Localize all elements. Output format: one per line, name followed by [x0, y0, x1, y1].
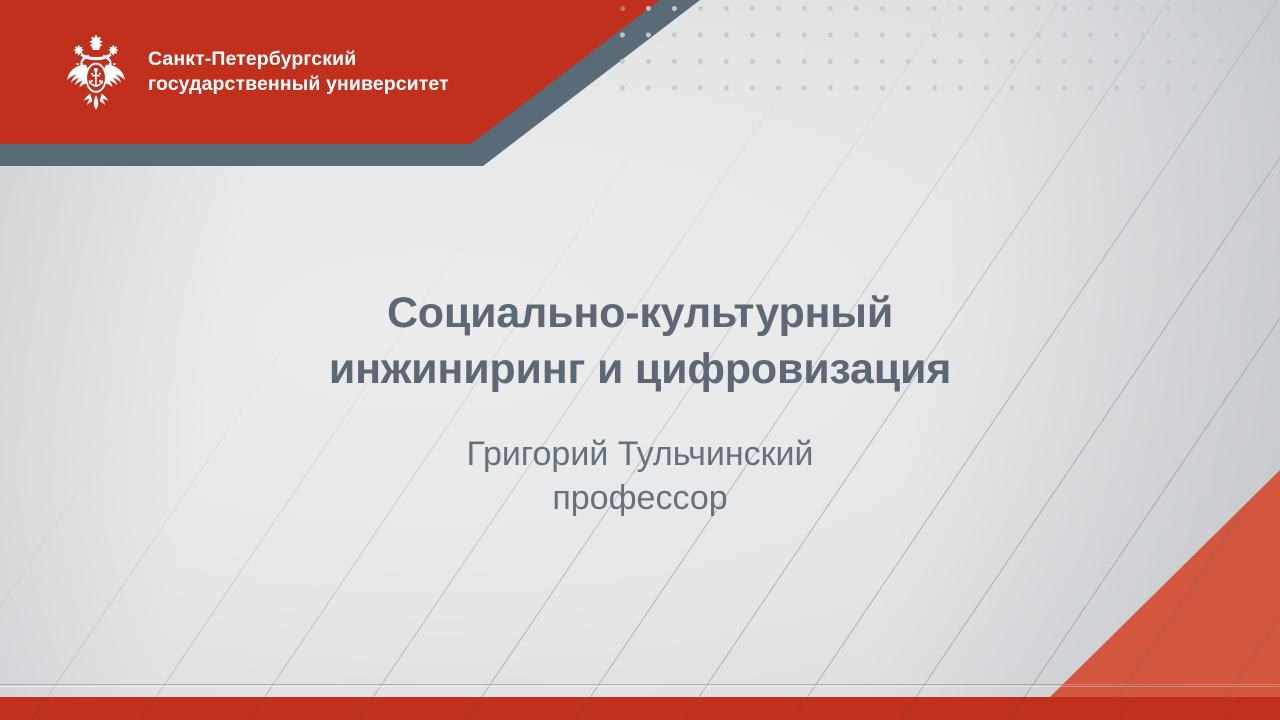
title-block: Социально-культурный инжиниринг и цифров…: [0, 286, 1280, 520]
footer-divider-line: [0, 684, 1280, 685]
university-logo-lockup[interactable]: Санкт-Петербургский государственный унив…: [60, 33, 449, 111]
dot-grid-pattern-icon: [590, 0, 1280, 100]
footer-divider-highlight: [0, 686, 1280, 687]
bottom-accent-bar-icon: [0, 697, 1280, 720]
double-headed-eagle-emblem-icon: [60, 33, 132, 111]
slide-subtitle: Григорий Тульчинский профессор: [0, 432, 1280, 520]
page-title: Социально-культурный инжиниринг и цифров…: [0, 286, 1280, 398]
presentation-slide: Санкт-Петербургский государственный унив…: [0, 0, 1280, 720]
university-name-label: Санкт-Петербургский государственный унив…: [148, 47, 449, 97]
bottom-bar-stripes-icon: [0, 697, 1280, 720]
